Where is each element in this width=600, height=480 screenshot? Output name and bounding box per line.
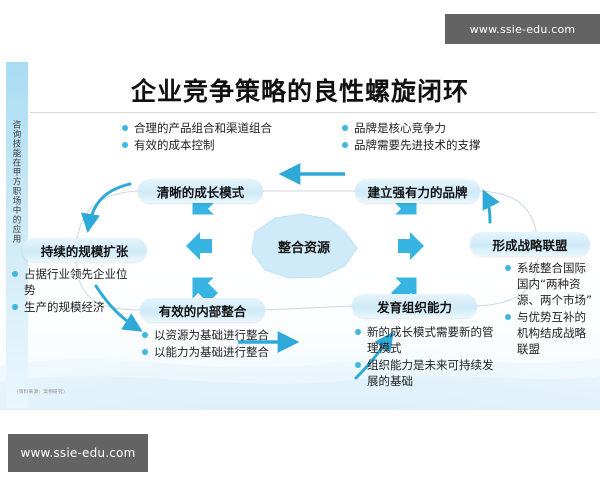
center-node[interactable]: 整合资源	[249, 212, 359, 280]
list-item: 品牌需要先进技术的支撑	[342, 137, 492, 153]
bullets-organization: 新的成长模式需要新的管理模式 组织能力是未来可持续发展的基础	[355, 324, 500, 390]
bullets-alliance: 系统整合国际国内“两种资源、两个市场” 与优势互补的机构结成战略联盟	[505, 260, 597, 358]
node-brand[interactable]: 建立强有力的品牌	[355, 179, 480, 203]
list-item: 新的成长模式需要新的管理模式	[355, 324, 500, 356]
node-organization-label: 发育组织能力	[377, 297, 452, 316]
bullets-growth: 合理的产品组合和渠道组合 有效的成本控制	[122, 120, 282, 154]
node-alliance[interactable]: 形成战略联盟	[470, 232, 590, 256]
bullets-scale: 占据行业领先企业位势 生产的规模经济	[12, 266, 132, 316]
bullets-integration: 以资源为基础进行整合 以能力为基础进行整合	[142, 327, 282, 361]
node-scale[interactable]: 持续的规模扩张	[22, 238, 147, 262]
bullets-brand: 品牌是核心竞争力 品牌需要先进技术的支撑	[342, 120, 492, 154]
slide-canvas: 咨询技能在甲方职场中的应用 企业竞争策略的良性螺旋闭环	[0, 62, 600, 410]
watermark-bottom-text: www.ssie-edu.com	[21, 446, 136, 460]
node-integration[interactable]: 有效的内部整合	[140, 298, 265, 322]
list-item: 占据行业领先企业位势	[12, 266, 132, 298]
list-item: 以能力为基础进行整合	[142, 344, 282, 360]
watermark-bottom: www.ssie-edu.com	[8, 434, 148, 472]
diagram: 整合资源 清晰的成长模式 建立强有力的品牌 持续的规模扩张 形成战略联盟 有效的…	[0, 62, 600, 410]
node-growth[interactable]: 清晰的成长模式	[138, 179, 263, 203]
list-item: 组织能力是未来可持续发展的基础	[355, 357, 500, 389]
list-item: 系统整合国际国内“两种资源、两个市场”	[505, 260, 597, 308]
watermark-top-text: www.ssie-edu.com	[470, 23, 576, 36]
node-brand-label: 建立强有力的品牌	[367, 182, 467, 201]
list-item: 有效的成本控制	[122, 137, 282, 153]
node-alliance-label: 形成战略联盟	[492, 235, 567, 254]
center-node-label: 整合资源	[249, 212, 359, 280]
watermark-top: www.ssie-edu.com	[445, 14, 600, 44]
node-integration-label: 有效的内部整合	[159, 301, 247, 320]
source-caption: （资料来源：案例研究）	[14, 389, 68, 395]
node-growth-label: 清晰的成长模式	[157, 182, 245, 201]
node-scale-label: 持续的规模扩张	[41, 241, 129, 260]
list-item: 与优势互补的机构结成战略联盟	[505, 309, 597, 357]
node-organization[interactable]: 发育组织能力	[352, 294, 477, 318]
list-item: 生产的规模经济	[12, 299, 132, 315]
list-item: 以资源为基础进行整合	[142, 327, 282, 343]
list-item: 品牌是核心竞争力	[342, 120, 492, 136]
list-item: 合理的产品组合和渠道组合	[122, 120, 282, 136]
